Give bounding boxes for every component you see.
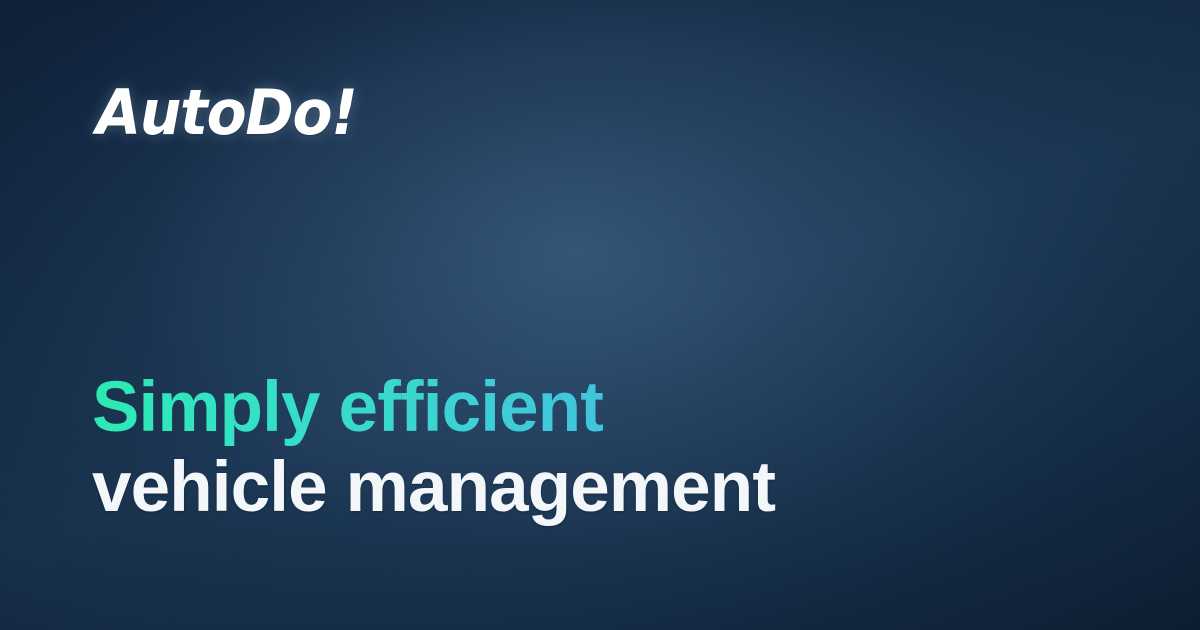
headline-line-accent: Simply efficient [92,368,775,448]
hero-content: AutoDo! Simply efficient vehicle managem… [0,0,1200,630]
brand-logo: AutoDo! [96,82,357,144]
page-title: Simply efficient vehicle management [92,368,775,527]
headline-line-plain: vehicle management [92,448,775,528]
hero-banner: AutoDo! Simply efficient vehicle managem… [0,0,1200,630]
